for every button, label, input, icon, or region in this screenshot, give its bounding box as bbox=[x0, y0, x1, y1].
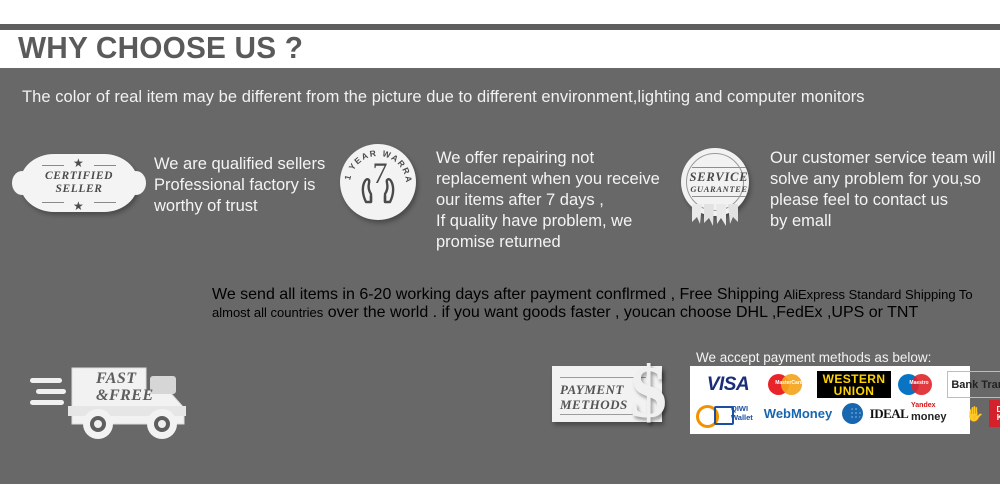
feature-line: replacement when you receive bbox=[436, 169, 660, 190]
maestro-logo: Maestro bbox=[896, 371, 942, 398]
sofort-logo bbox=[839, 400, 867, 427]
fast-free-truck-icon: FAST &FREE bbox=[28, 356, 208, 448]
maestro-label: Maestro bbox=[902, 380, 936, 386]
visa-logo: VISA bbox=[695, 371, 761, 398]
content-area: The color of real item may be different … bbox=[0, 68, 1000, 484]
warranty-text: We offer repairing not replacement when … bbox=[436, 148, 660, 253]
truck-label-line1: FAST bbox=[96, 370, 137, 387]
qiwi-line1: QIWI bbox=[731, 404, 748, 413]
payment-methods-icon: PAYMENT METHODS $ bbox=[552, 358, 692, 432]
payment-plaque-line2: METHODS bbox=[560, 397, 628, 412]
certified-badge-line1: CERTIFIED bbox=[45, 170, 113, 182]
feature-line: Professional factory is bbox=[154, 175, 325, 196]
page-title: WHY CHOOSE US ? bbox=[18, 29, 303, 67]
certified-seller-badge-icon: ★ CERTIFIED SELLER ★ bbox=[20, 150, 138, 216]
bank-transfer-logo: Bank Transfer bbox=[947, 371, 1000, 398]
warranty-badge-icon: 1 YEAR WARRANTY 7 bbox=[338, 142, 422, 226]
payment-caption: We accept payment methods as below: bbox=[696, 350, 931, 365]
shipping-text: We send all items in 6-20 working days a… bbox=[212, 286, 1000, 322]
service-badge-line1: SERVICE bbox=[678, 170, 760, 185]
feature-line: please feel to contact us bbox=[770, 190, 996, 211]
yandex-money-logo: Yandex money bbox=[911, 400, 961, 427]
webmoney-logo: WebMoney bbox=[762, 400, 834, 427]
qiwi-wallet-logo: QIWI Wallet bbox=[695, 400, 757, 427]
dollar-sign-icon: $ bbox=[630, 354, 667, 432]
certified-seller-text: We are qualified sellers Professional fa… bbox=[154, 154, 325, 217]
qiwi-line2: Wallet bbox=[731, 413, 753, 422]
western-union-logo: WESTERN UNION bbox=[817, 371, 891, 398]
feature-line: by emall bbox=[770, 211, 996, 232]
feature-line: solve any problem for you,so bbox=[770, 169, 996, 190]
feature-service-guarantee: SERVICE GUARANTEE Our customer service t… bbox=[678, 146, 996, 232]
western-union-line2: UNION bbox=[834, 385, 875, 397]
feature-line: worthy of trust bbox=[154, 196, 325, 217]
payment-plaque-line1: PAYMENT bbox=[560, 382, 624, 397]
mastercard-logo: MasterCard bbox=[766, 371, 812, 398]
feature-warranty: 1 YEAR WARRANTY 7 We offer repairing not… bbox=[338, 142, 660, 253]
service-badge-line2: GUARANTEE bbox=[678, 184, 760, 194]
shipping-line: We send all items in 6-20 working days bbox=[212, 286, 489, 303]
hand-icon: ✋ bbox=[966, 400, 984, 427]
feature-certified-seller: ★ CERTIFIED SELLER ★ We are qualified se… bbox=[20, 150, 325, 217]
mastercard-label: MasterCard bbox=[774, 380, 804, 386]
service-guarantee-text: Our customer service team will solve any… bbox=[770, 148, 996, 232]
disclaimer-text: The color of real item may be different … bbox=[22, 88, 865, 107]
warranty-number: 7 bbox=[338, 158, 422, 190]
promo-banner: WHY CHOOSE US ? The color of real item m… bbox=[0, 0, 1000, 484]
feature-line: If quality have problem, we bbox=[436, 211, 660, 232]
doku-logo: DO KU bbox=[989, 400, 1000, 427]
feature-line: We offer repairing not bbox=[436, 148, 660, 169]
yandex-line1: Yandex bbox=[911, 402, 936, 410]
payment-logo-row-2: QIWI Wallet WebMoney IDEAL Yandex money … bbox=[695, 399, 965, 428]
feature-line: Our customer service team will bbox=[770, 148, 996, 169]
feature-line: our items after 7 days , bbox=[436, 190, 660, 211]
title-band: WHY CHOOSE US ? bbox=[0, 30, 1000, 68]
shipping-line: youcan choose DHL ,FedEx ,UPS or TNT bbox=[624, 304, 918, 321]
feature-line: promise returned bbox=[436, 232, 660, 253]
shipping-line: after payment conflrmed , Free Shipping bbox=[494, 286, 779, 303]
payment-logo-board: VISA MasterCard WESTERN UNION Maestro Ba… bbox=[690, 366, 970, 434]
service-guarantee-badge-icon: SERVICE GUARANTEE bbox=[678, 146, 760, 232]
yandex-line2: money bbox=[911, 411, 946, 423]
ideal-logo: IDEAL bbox=[872, 400, 906, 427]
certified-badge-line2: SELLER bbox=[55, 183, 102, 195]
shipping-line: over the world . if you want goods faste… bbox=[328, 304, 620, 321]
payment-logo-row-1: VISA MasterCard WESTERN UNION Maestro Ba… bbox=[695, 370, 965, 399]
western-union-line1: WESTERN bbox=[823, 373, 886, 385]
truck-label-line2: &FREE bbox=[96, 387, 154, 404]
truck-label: FAST &FREE bbox=[96, 370, 154, 404]
feature-line: We are qualified sellers bbox=[154, 154, 325, 175]
